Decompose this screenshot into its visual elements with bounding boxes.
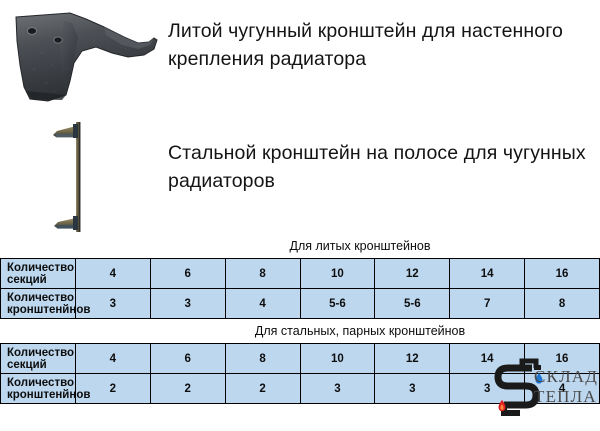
- table-cast-brackets: Для литых кронштейнов Количество секций …: [0, 234, 600, 319]
- table-caption-row: Для литых кронштейнов: [1, 234, 600, 259]
- table-row: Количество кронштенйнов 2 2 2 3 3 3 4: [1, 374, 600, 404]
- cell-brackets: 4: [225, 289, 300, 319]
- row-label-brackets: Количество кронштенйнов: [1, 374, 76, 404]
- table-row: Количество секций 4 6 8 10 12 14 16: [1, 344, 600, 374]
- cell-brackets: 5-6: [375, 289, 450, 319]
- caption-cast-brackets: Для литых кронштейнов: [1, 234, 600, 259]
- cell-sections: 10: [300, 344, 375, 374]
- steel-strip-bracket-image-cell: [0, 112, 168, 234]
- cell-sections: 16: [525, 344, 600, 374]
- cell-sections: 16: [525, 259, 600, 289]
- product-section: Литой чугунный кронштейн для настенного …: [0, 0, 600, 234]
- cell-brackets: 3: [150, 289, 225, 319]
- product-title-cast-iron: Литой чугунный кронштейн для настенного …: [168, 18, 600, 73]
- row-label-sections: Количество секций: [1, 344, 76, 374]
- cell-brackets: 2: [150, 374, 225, 404]
- cell-sections: 14: [450, 259, 525, 289]
- cell-sections: 6: [150, 344, 225, 374]
- cell-sections: 6: [150, 259, 225, 289]
- cast-iron-bracket-image-cell: [0, 0, 168, 112]
- table-row: Количество кронштенйнов 3 3 4 5-6 5-6 7 …: [1, 289, 600, 319]
- cell-sections: 8: [225, 344, 300, 374]
- caption-steel-paired-brackets: Для стальных, парных кронштейнов: [1, 319, 600, 344]
- cell-sections: 4: [75, 259, 150, 289]
- bracket-tables: Для литых кронштейнов Количество секций …: [0, 234, 600, 404]
- table-steel-paired-brackets: Для стальных, парных кронштейнов Количес…: [0, 319, 600, 404]
- cell-sections: 10: [300, 259, 375, 289]
- cell-brackets: 3: [375, 374, 450, 404]
- product-row-steel-strip: Стальной кронштейн на полосе для чугунны…: [0, 112, 600, 234]
- table-row: Количество секций 4 6 8 10 12 14 16: [1, 259, 600, 289]
- cast-iron-bracket-photo: [8, 7, 160, 107]
- cell-brackets: 2: [225, 374, 300, 404]
- cell-brackets: 4: [525, 374, 600, 404]
- row-label-brackets: Количество кронштенйнов: [1, 289, 76, 319]
- table-caption-row: Для стальных, парных кронштейнов: [1, 319, 600, 344]
- cell-sections: 12: [375, 344, 450, 374]
- cast-iron-bracket-text-cell: Литой чугунный кронштейн для настенного …: [168, 0, 600, 130]
- cell-brackets: 5-6: [300, 289, 375, 319]
- cell-brackets: 8: [525, 289, 600, 319]
- cell-sections: 14: [450, 344, 525, 374]
- product-title-steel-strip: Стальной кронштейн на полосе для чугунны…: [168, 140, 600, 195]
- cell-brackets: 7: [450, 289, 525, 319]
- steel-strip-bracket-photo: [45, 118, 115, 236]
- cell-brackets: 3: [450, 374, 525, 404]
- cell-brackets: 3: [300, 374, 375, 404]
- row-label-sections: Количество секций: [1, 259, 76, 289]
- product-row-cast-iron: Литой чугунный кронштейн для настенного …: [0, 0, 600, 112]
- cell-sections: 8: [225, 259, 300, 289]
- cell-sections: 4: [75, 344, 150, 374]
- cell-sections: 12: [375, 259, 450, 289]
